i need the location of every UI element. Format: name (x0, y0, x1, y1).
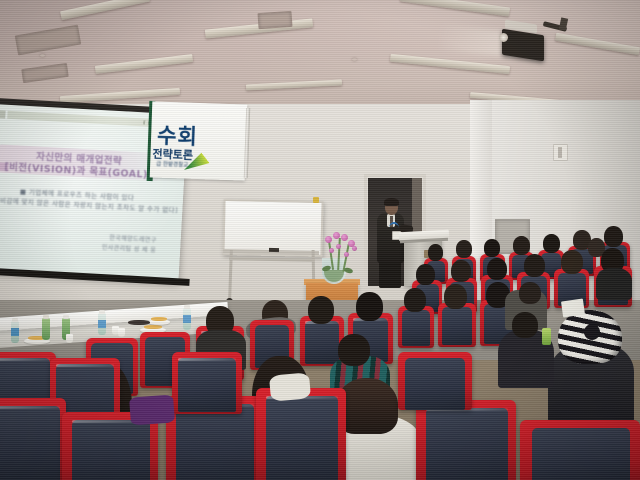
attendee-head (524, 254, 545, 277)
orchid-bloom (352, 246, 357, 251)
auditorium-seat-pad (176, 404, 254, 480)
attendee-head (428, 244, 443, 261)
bottle-cap (43, 315, 49, 319)
paper-cup (118, 328, 125, 337)
orchid-bloom (333, 232, 340, 239)
whiteboard-corner-clip (313, 197, 319, 203)
whiteboard-eraser (269, 248, 279, 252)
seat-rim-highlight (0, 358, 50, 361)
dark-snack-tray (128, 320, 150, 325)
orchid-bloom (325, 236, 332, 243)
attendee-head (416, 264, 435, 285)
speaker-hair (384, 198, 399, 206)
bottle-cap (63, 315, 69, 319)
seat-rim-highlight (178, 358, 236, 361)
auditorium-seat-pad (178, 358, 236, 412)
auditorium-seat-pad (305, 321, 339, 364)
attendee-head (512, 312, 538, 338)
green-drink-bottle (542, 328, 551, 345)
slide-header-tab (0, 110, 6, 119)
ceiling-smoke-detector (40, 54, 45, 57)
snack-food (151, 317, 167, 321)
attendee-head (561, 250, 583, 274)
attendee-head (487, 258, 507, 280)
bottle-cap (12, 318, 18, 322)
attendee-head (513, 236, 530, 255)
attendee-white-cloth (269, 372, 311, 401)
projector-lens-icon (499, 33, 508, 42)
attendee-head (451, 260, 471, 282)
seat-rim-highlight (0, 406, 60, 409)
auditorium-seat-pad (426, 408, 508, 480)
seat-rim-highlight (56, 364, 114, 367)
ceiling-smoke-detector (352, 58, 357, 61)
attendee-head (519, 282, 541, 304)
bottle-label (98, 320, 106, 328)
event-banner: 수회 전략토론 급 한밭경찰교 (150, 101, 248, 180)
bottle-cap (184, 305, 190, 309)
snack-food (144, 325, 162, 329)
bottle-label (11, 328, 19, 336)
beanie-crown-dot (584, 324, 600, 340)
attendee-papers (561, 299, 585, 318)
auditorium-seat-pad (402, 310, 430, 346)
attendee-head (308, 296, 334, 324)
orchid-bloom (344, 252, 349, 257)
auditorium-seat-pad (0, 406, 60, 480)
attendee-head (456, 240, 472, 258)
water-bottle (42, 318, 50, 340)
auditorium-seat-pad (532, 428, 630, 480)
auditorium-seat-pad (405, 358, 465, 410)
bottle-label (183, 315, 191, 323)
ceiling-air-vent (257, 11, 292, 29)
attendee-torso (596, 268, 632, 300)
attendee-head (404, 288, 426, 312)
orchid-bloom (329, 248, 334, 253)
auditorium-seat-pad (266, 396, 338, 480)
orchid-bloom (336, 244, 341, 249)
attendee-bag (129, 394, 175, 425)
attendee-head (444, 284, 467, 309)
orchid-bloom (341, 234, 348, 241)
attendee-head (543, 234, 560, 253)
lecture-hall-photo: 자신만의 매개업전략 [비전(VISION)과 목표(GOAL)] ■ 기업체에… (0, 0, 640, 480)
speaker-legs (379, 260, 401, 288)
auditorium-seat-pad (442, 307, 472, 345)
attendee-head (356, 292, 383, 321)
attendee-head (338, 334, 370, 366)
wall-speaker (553, 144, 568, 161)
attendee-head (484, 239, 500, 257)
paper-cup (66, 334, 73, 343)
auditorium-seat-pad (72, 420, 150, 480)
attendee-head (604, 226, 623, 247)
bottle-cap (99, 310, 105, 314)
banner-subtext: 급 한밭경찰교 (156, 160, 188, 169)
